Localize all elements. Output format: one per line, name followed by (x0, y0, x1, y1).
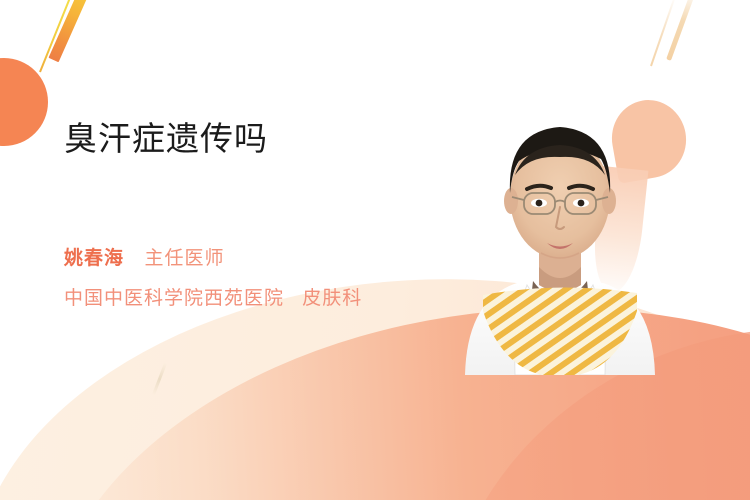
department-name: 皮肤科 (302, 288, 362, 309)
faint-diagonal-mark-icon (152, 363, 167, 396)
doctor-portrait (455, 85, 665, 375)
page-title: 臭汗症遗传吗 (64, 118, 444, 159)
orange-diagonal-stripe-icon (48, 0, 90, 62)
orange-circle-decoration (0, 58, 48, 146)
hospital-name: 中国中医科学院西苑医院 (64, 288, 284, 309)
cream-diagonal-stripe-icon-a (666, 0, 697, 61)
doctor-title: 主任医师 (144, 248, 224, 269)
cream-diagonal-stripe-icon-b (650, 0, 676, 66)
doctor-name: 姚春海 (64, 248, 124, 269)
video-cover-card: 臭汗症遗传吗 姚春海 主任医师 中国中医科学院西苑医院 皮肤科 (0, 0, 750, 500)
doctor-affiliation-line: 中国中医科学院西苑医院 皮肤科 (64, 283, 444, 310)
text-block: 臭汗症遗传吗 姚春海 主任医师 中国中医科学院西苑医院 皮肤科 (64, 118, 444, 310)
doctor-identity-line: 姚春海 主任医师 (64, 243, 444, 270)
yellow-diagonal-stripe-icon (39, 0, 72, 72)
